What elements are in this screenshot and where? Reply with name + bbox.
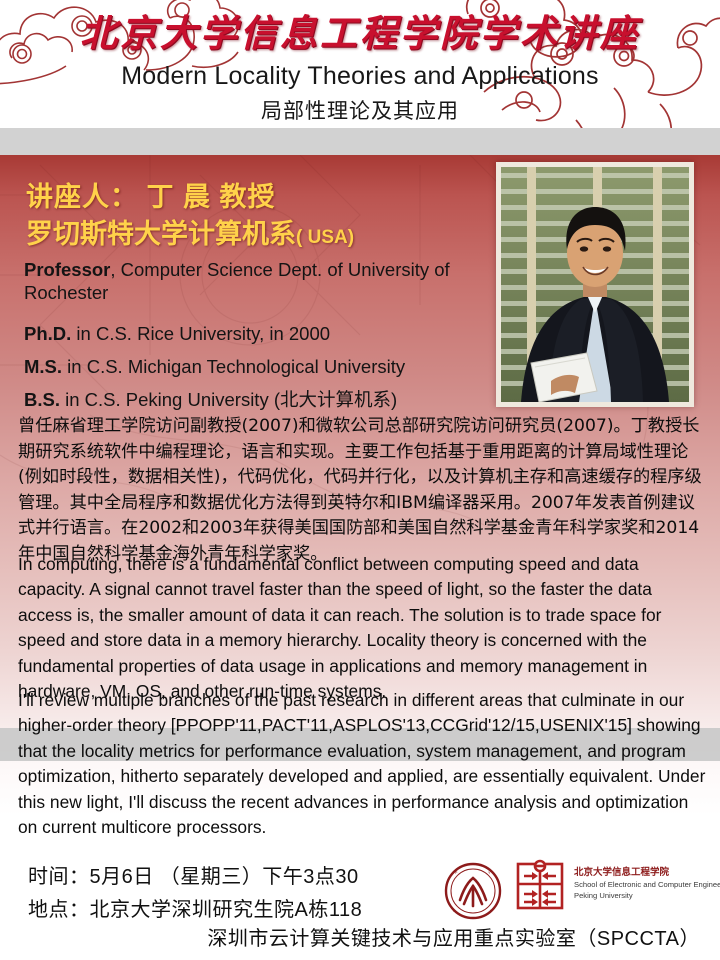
school-name-en-line2: Peking University bbox=[574, 890, 720, 901]
svg-text:P: P bbox=[455, 871, 458, 875]
credential-item: B.S. in C.S. Peking University (北大计算机系) bbox=[24, 388, 397, 411]
lab-credit-line: 深圳市云计算关键技术与应用重点实验室（SPCCTA） bbox=[0, 922, 700, 951]
credential-degree: M.S. bbox=[24, 356, 62, 377]
organization-title: 北京大学信息工程学院学术讲座 bbox=[0, 3, 720, 57]
credential-detail: in C.S. Rice University, in 2000 bbox=[71, 323, 330, 344]
peking-university-seal-icon: PY 18 bbox=[444, 862, 502, 920]
speaker-name-line: 讲座人： 丁 晨 教授 bbox=[26, 175, 276, 214]
credential-item: Ph.D. in C.S. Rice University, in 2000 bbox=[24, 322, 330, 345]
speaker-portrait-illustration bbox=[501, 167, 689, 402]
lecture-poster: 北京大学信息工程学院学术讲座 Modern Locality Theories … bbox=[0, 0, 720, 960]
poster-header: 北京大学信息工程学院学术讲座 Modern Locality Theories … bbox=[0, 0, 720, 128]
header-divider-band bbox=[0, 128, 720, 155]
credential-item: M.S. in C.S. Michigan Technological Univ… bbox=[24, 355, 405, 378]
school-logo-icon bbox=[512, 858, 568, 914]
school-logo-text: 北京大学信息工程学院 School of Electronic and Comp… bbox=[574, 866, 720, 901]
abstract-paragraph-2: I'll review multiple branches of the pas… bbox=[18, 688, 708, 840]
event-location-label: 地点： bbox=[28, 899, 90, 921]
event-time-value: 5月6日 （星期三）下午3点30 bbox=[90, 866, 359, 888]
speaker-affiliation-country: ( USA) bbox=[296, 227, 354, 248]
credential-degree: B.S. bbox=[24, 389, 60, 410]
credential-degree: Professor bbox=[24, 259, 110, 280]
talk-title-en: Modern Locality Theories and Application… bbox=[0, 62, 720, 91]
svg-text:1: 1 bbox=[453, 909, 455, 913]
abstract-paragraph-1: In computing, there is a fundamental con… bbox=[18, 552, 708, 704]
credential-item: Professor, Computer Science Dept. of Uni… bbox=[24, 258, 479, 304]
event-location-value: 北京大学深圳研究生院A栋118 bbox=[90, 899, 363, 921]
credential-detail: in C.S. Peking University (北大计算机系) bbox=[60, 389, 397, 410]
event-time-label: 时间： bbox=[28, 866, 90, 888]
biography-paragraph-cn: 曾任麻省理工学院访问副教授(2007)和微软公司总部研究院访问研究员(2007)… bbox=[18, 414, 708, 567]
svg-text:8: 8 bbox=[490, 909, 492, 913]
speaker-photo bbox=[501, 167, 689, 402]
talk-title-cn: 局部性理论及其应用 bbox=[0, 95, 720, 125]
event-location: 地点：北京大学深圳研究生院A栋118 bbox=[28, 893, 362, 922]
school-name-cn: 北京大学信息工程学院 bbox=[574, 866, 720, 879]
credential-degree: Ph.D. bbox=[24, 323, 71, 344]
speaker-photo-frame bbox=[496, 162, 694, 407]
event-time: 时间：5月6日 （星期三）下午3点30 bbox=[28, 860, 359, 889]
credential-detail: in C.S. Michigan Technological Universit… bbox=[62, 356, 405, 377]
speaker-affiliation-cn: 罗切斯特大学计算机系 bbox=[26, 219, 296, 249]
school-name-en-line1: School of Electronic and Computer Engine… bbox=[574, 879, 720, 890]
speaker-affiliation-line: 罗切斯特大学计算机系( USA) bbox=[26, 212, 354, 251]
